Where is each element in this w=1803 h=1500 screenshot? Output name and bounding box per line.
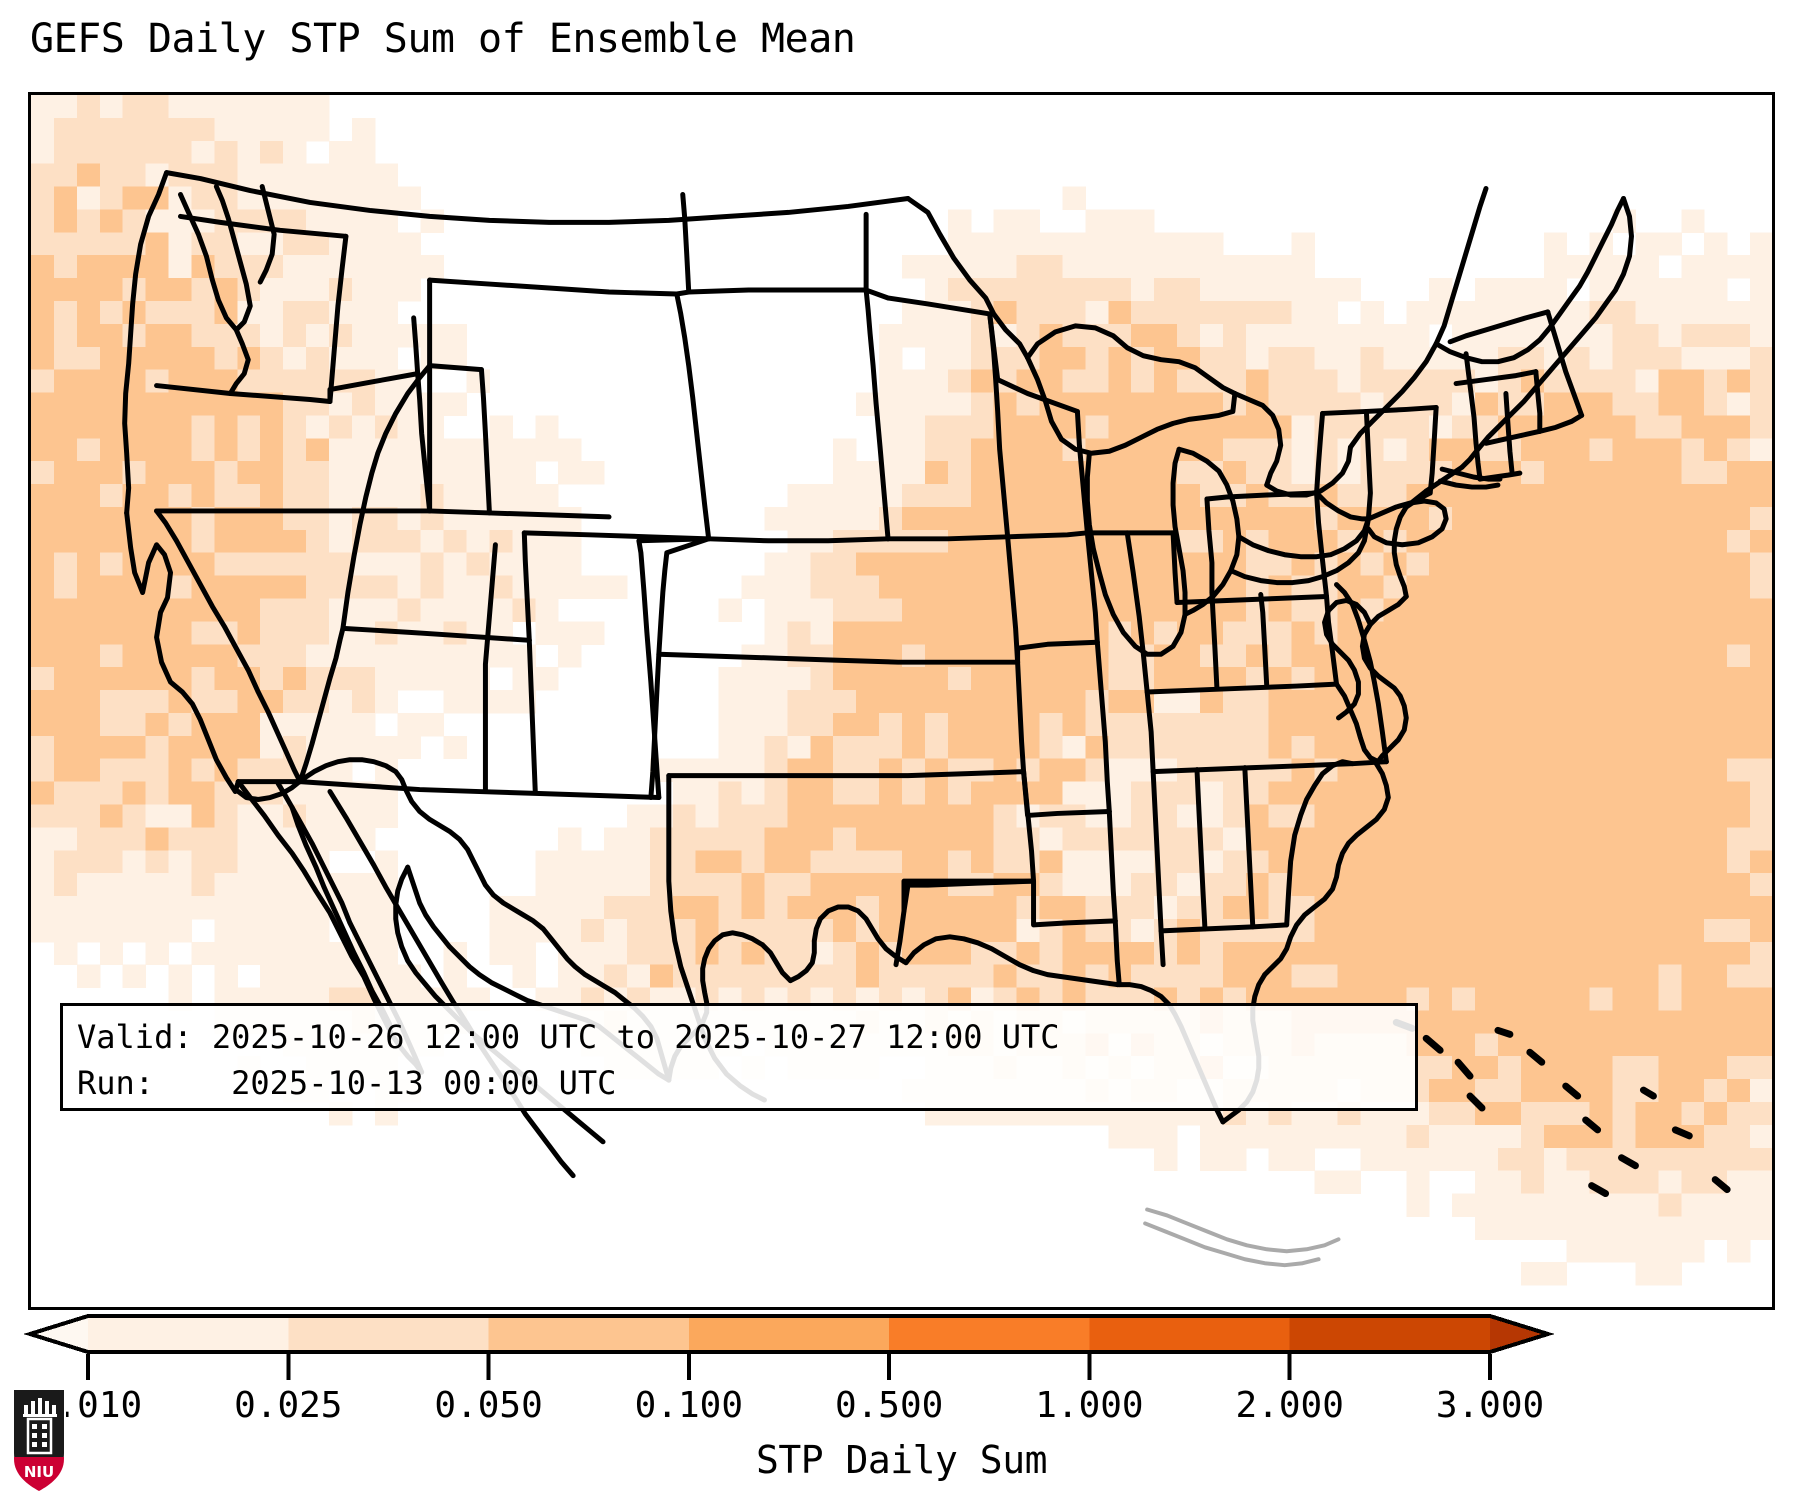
valid-time-line: Valid: 2025-10-26 12:00 UTC to 2025-10-2…	[77, 1014, 1401, 1060]
colorbar-tick-labels: 0.0100.0250.0500.1000.5001.0002.0003.000	[0, 1384, 1803, 1432]
colorbar-axis-label: STP Daily Sum	[0, 1438, 1803, 1482]
colorbar-tick-label: 0.025	[234, 1384, 342, 1428]
colorbar-tick-label: 2.000	[1236, 1384, 1344, 1428]
run-time-line: Run: 2025-10-13 00:00 UTC	[77, 1060, 1401, 1106]
colorbar-tick-label: 0.100	[635, 1384, 743, 1428]
colorbar-tick-label: 3.000	[1436, 1384, 1544, 1428]
map-canvas	[31, 95, 1772, 1307]
colorbar-tick-label: 0.500	[835, 1384, 943, 1428]
colorbar-tick-label: 0.050	[434, 1384, 542, 1428]
niu-logo: NIU	[10, 1387, 68, 1493]
page-title: GEFS Daily STP Sum of Ensemble Mean	[30, 16, 855, 62]
map-plot-area	[28, 92, 1775, 1310]
map-borders	[31, 95, 1772, 1307]
colorbar-tick-label: 1.000	[1035, 1384, 1143, 1428]
valid-run-info-box: Valid: 2025-10-26 12:00 UTC to 2025-10-2…	[60, 1003, 1418, 1111]
colorbar-region: 0.0100.0250.0500.1000.5001.0002.0003.000…	[0, 1308, 1803, 1500]
niu-logo-text: NIU	[24, 1463, 54, 1481]
